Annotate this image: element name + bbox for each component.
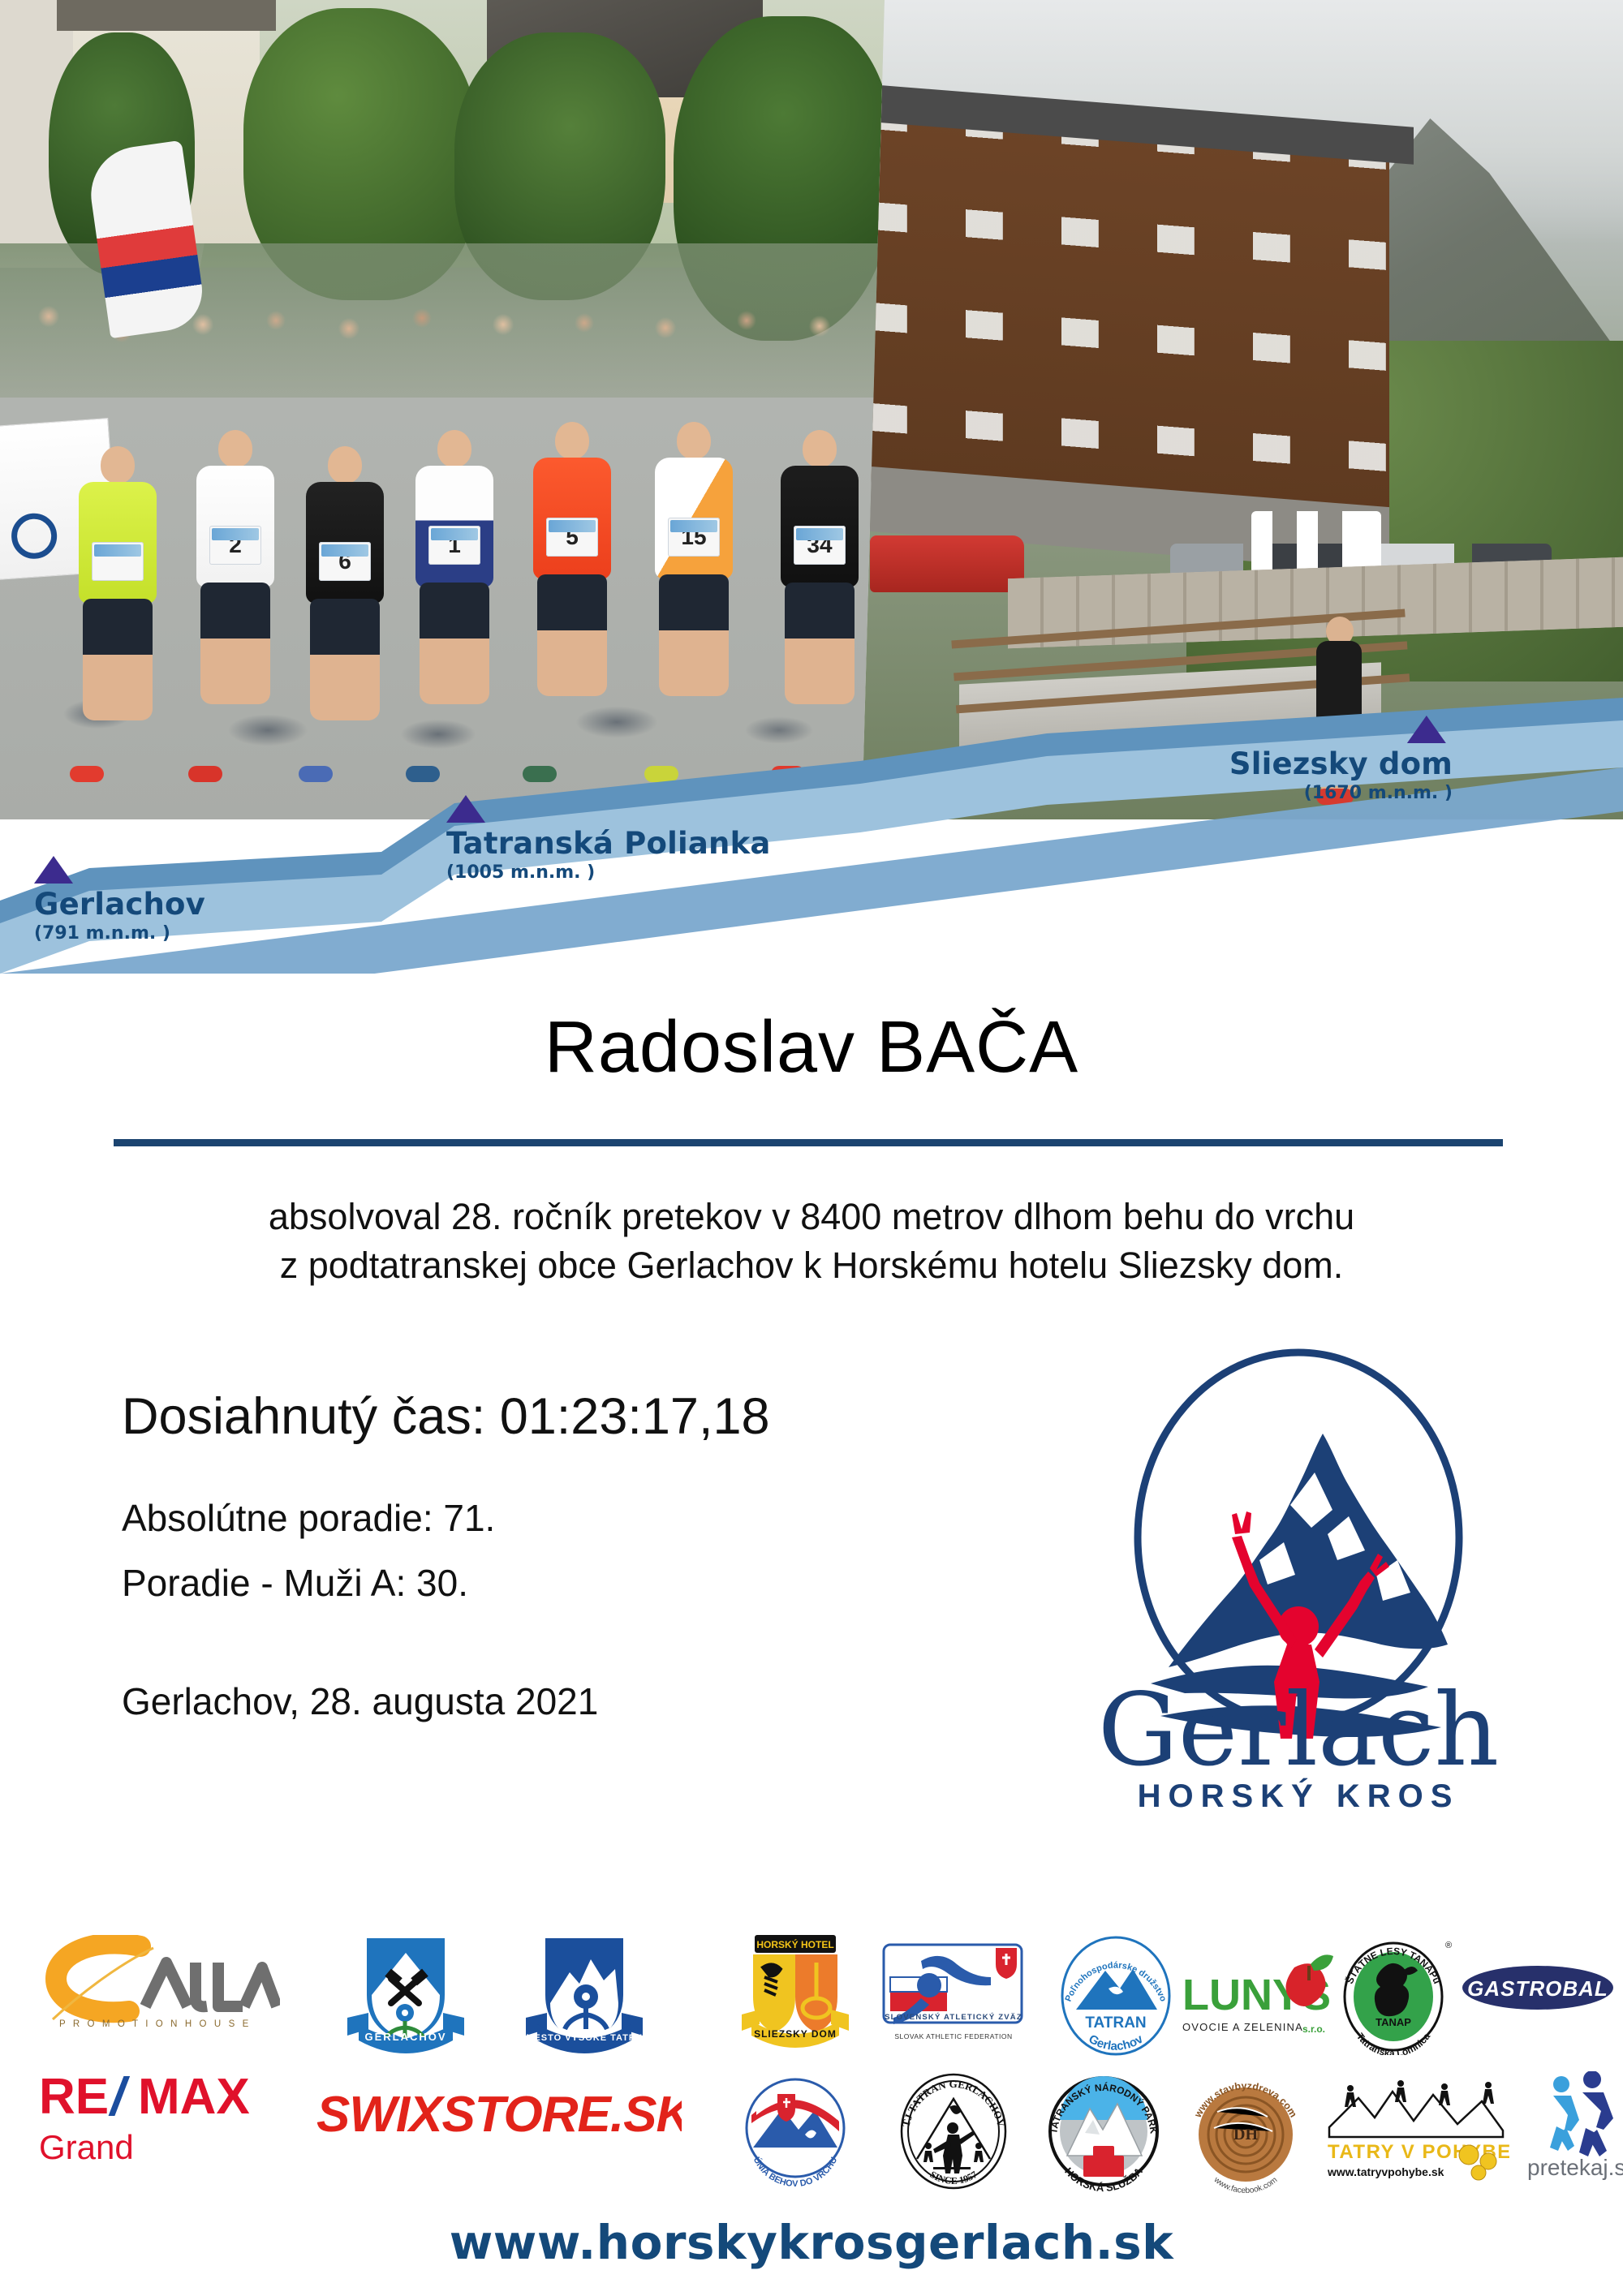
photo-sliezsky-dom-finish — [862, 0, 1623, 819]
sponsor-remax-sub: Grand — [39, 2128, 134, 2166]
sponsor-logo-remax-grand: RE / MAX Grand — [39, 2065, 266, 2170]
svg-text:MAX: MAX — [138, 2069, 250, 2125]
sponsor-tanap-mark: TANAP — [1375, 2016, 1411, 2028]
sponsor-logo-horska-sluzba: TATRANSKÝ NÁRODNÝ PARK HORSKÁ SLUŽBA — [1043, 2071, 1165, 2193]
runner-legs — [537, 574, 607, 696]
sponsor-lunys-suffix: s.r.o. — [1302, 2023, 1325, 2035]
athlete-name: Radoslav BAČA — [0, 1006, 1623, 1090]
description-line-2: z podtatranskej obce Gerlachov k Horském… — [0, 1241, 1623, 1290]
sponsor-logo-tatry-v-pohybe: TATRY V POHYBE www.tatryvpohybe.sk — [1323, 2077, 1509, 2186]
description-line-1: absolvoval 28. ročník pretekov v 8400 me… — [0, 1193, 1623, 1241]
photo-rescue-van — [870, 535, 1024, 592]
runner-legs — [785, 583, 855, 704]
footer-website-url: www.horskykrosgerlach.sk — [0, 2215, 1623, 2270]
runner-legs — [659, 574, 729, 696]
runner-bib: 15 — [668, 518, 720, 557]
photo-hotel-windows — [870, 101, 1389, 523]
sponsor-vysoke-tatry-ribbon: MESTO VYSOKÉ TATRY — [526, 2032, 643, 2043]
runner-bib: 2 — [209, 526, 261, 565]
waypoint-sliezsky-dom: Sliezsky dom (1670 m.n.m. ) — [1229, 716, 1453, 803]
sponsor-logo-swixstore: SWIXSTORE.SK — [316, 2081, 682, 2154]
waypoint-gerlachov: Gerlachov (791 m.n.m. ) — [34, 856, 205, 944]
photo-roof-left — [57, 0, 276, 31]
waypoint-tatranska-polianka: Tatranská Polianka (1005 m.n.m. ) — [446, 795, 771, 883]
sponsor-pd-center: TATRAN — [1085, 2014, 1146, 2032]
runner-bib: 34 — [794, 526, 846, 565]
sponsor-logo-statne-lesy-tanapu: TANAP ŠTÁTNE LESY TANAPu Tatranská Lomni… — [1335, 1933, 1457, 2055]
runner-head — [555, 422, 589, 459]
sponsor-saz-line2: SLOVAK ATHLETIC FEDERATION — [894, 2032, 1012, 2040]
sponsor-logo-gastrobal: GASTROBAL — [1461, 1959, 1615, 2016]
logo-tagline: HORSKÝ KROS — [1138, 1777, 1460, 1814]
runner-bib: 5 — [546, 518, 598, 557]
sponsor-swixstore-text: SWIXSTORE.SK — [316, 2087, 682, 2143]
sponsor-lunys-tagline: OVOCIE A ZELENINA — [1182, 2021, 1303, 2033]
waypoint-marker-triangle-icon — [1407, 716, 1446, 743]
sponsor-logo-mesto-vysoke-tatry: MESTO VYSOKÉ TATRY — [519, 1933, 649, 2055]
result-finish-time: Dosiahnutý čas: 01:23:17,18 — [122, 1387, 974, 1446]
sponsor-pretekaj-text: pretekaj.sk — [1527, 2155, 1623, 2180]
result-category-rank: Poradie - Muži A: 30. — [122, 1561, 974, 1605]
sponsor-saz-line1: SLOVENSKÝ ATLETICKÝ ZVÄZ — [885, 2012, 1022, 2022]
runner-legs — [200, 583, 270, 704]
waypoint-name: Sliezsky dom — [1229, 746, 1453, 781]
runner-head — [328, 446, 362, 484]
sponsor-gastrobal-text: GASTROBAL — [1467, 1976, 1608, 2001]
runner-bib — [92, 542, 144, 581]
result-overall-rank: Absolútne poradie: 71. — [122, 1496, 974, 1540]
divider-rule — [114, 1139, 1503, 1146]
sponsor-ajla-tagline: P R O M O T I O N H O U S E — [59, 2019, 251, 2029]
elevation-profile-chart: Gerlachov (791 m.n.m. ) Tatranská Polian… — [0, 698, 1623, 974]
waypoint-marker-triangle-icon — [34, 856, 73, 884]
certificate-description: absolvoval 28. ročník pretekov v 8400 me… — [0, 1193, 1623, 1291]
sponsor-sliezsky-top: HORSKÝ HOTEL — [756, 1938, 833, 1950]
waypoint-altitude: (1670 m.n.m. ) — [1229, 783, 1453, 803]
sponsor-logo-pd-tatran-gerlachov: Poľnohospodárske družstvo TATRAN Gerlach… — [1055, 1935, 1177, 2057]
sponsor-logo-obec-gerlachov: GERLACHOV — [341, 1933, 471, 2055]
runner-bib: 6 — [319, 542, 371, 581]
runner-head — [803, 430, 837, 467]
sponsor-logo-tj-tatran-gerlachov: TJ TATRAN GERLACHOV SINCE 1957 — [893, 2071, 1014, 2193]
sponsor-sliezsky-ribbon: SLIEZSKY DOM — [754, 2028, 837, 2040]
sponsor-logo-unia-behov-do-vrchu: ÚNIA BEHOV DO VRCHU — [738, 2073, 852, 2186]
waypoint-name: Gerlachov — [34, 887, 205, 922]
results-block: Dosiahnutý čas: 01:23:17,18 Absolútne po… — [122, 1387, 974, 1723]
sponsor-logo-slovensky-atleticky-zvaz: SLOVENSKÝ ATLETICKÝ ZVÄZ SLOVAK ATHLETIC… — [872, 1938, 1035, 2052]
runner-head — [101, 446, 135, 484]
waypoint-name: Tatranská Polianka — [446, 826, 771, 861]
sponsor-gerlachov-ribbon: GERLACHOV — [364, 2031, 446, 2043]
waypoint-altitude: (1005 m.n.m. ) — [446, 862, 771, 883]
waypoint-marker-triangle-icon — [446, 795, 485, 823]
svg-text:DH: DH — [1233, 2126, 1258, 2143]
runner-bib: 1 — [428, 526, 480, 565]
sponsor-logo-stavbyzdreva: DH www.stavbyzdreva.com www.facebook.com — [1185, 2071, 1307, 2193]
logo-wordmark: Gerlach — [1098, 1672, 1500, 1789]
runner-head — [218, 430, 252, 467]
runner-head — [677, 422, 711, 459]
svg-text:RE: RE — [39, 2069, 109, 2125]
svg-text:/: / — [108, 2066, 131, 2126]
photo-race-start: 2 6 1 5 15 — [0, 0, 885, 819]
sponsor-logo-lunys: LUNYS OVOCIE A ZELENINA s.r.o. — [1181, 1950, 1335, 2047]
gerlach-horsky-kros-logo: Gerlach HORSKÝ KROS — [1047, 1343, 1550, 1821]
sponsor-logo-ajla: P R O M O T I O N H O U S E — [45, 1935, 280, 2032]
sponsor-logo-pretekaj: pretekaj.sk — [1518, 2071, 1623, 2185]
sponsor-logo-sliezsky-dom: HORSKÝ HOTEL SLIEZSKY DOM — [738, 1930, 852, 2052]
sponsor-tatry-url: www.tatryvpohybe.sk — [1327, 2165, 1444, 2178]
hero-photo-collage: 2 6 1 5 15 — [0, 0, 1623, 819]
waypoint-altitude: (791 m.n.m. ) — [34, 923, 205, 944]
issue-place-and-date: Gerlachov, 28. augusta 2021 — [122, 1679, 974, 1723]
svg-text:®: ® — [1445, 1941, 1452, 1950]
sponsor-logo-strip: P R O M O T I O N H O U S E RE / MAX Gra… — [0, 1927, 1623, 2219]
runner-head — [437, 430, 471, 467]
runner-legs — [420, 583, 489, 704]
